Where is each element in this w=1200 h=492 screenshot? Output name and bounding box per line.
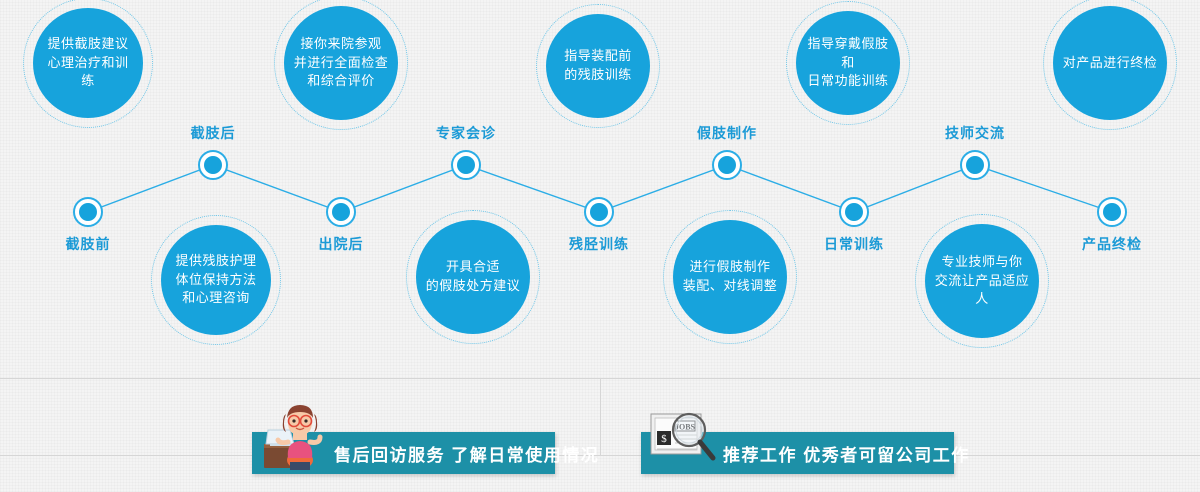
flow-bubble-text: 提供截肢建议 心理治疗和训练 [33, 35, 143, 92]
flow-bubble-text: 专业技师与你 交流让产品适应人 [925, 253, 1039, 310]
flow-bubble[interactable]: 指导穿戴假肢和 日常功能训练 [796, 11, 900, 115]
flow-bubble[interactable]: 接你来院参观 并进行全面检查 和综合评价 [284, 6, 398, 120]
flow-bubble-text: 接你来院参观 并进行全面检查 和综合评价 [286, 35, 397, 92]
flow-bubble-text: 开具合适 的假肢处方建议 [418, 258, 529, 296]
divider-vertical [600, 378, 601, 455]
timeline-node-label: 出院后 [319, 234, 364, 254]
timeline-node[interactable] [198, 150, 228, 180]
service-banner-text: 售后回访服务 了解日常使用情况 [334, 441, 599, 466]
flow-bubble-text: 对产品进行终检 [1055, 54, 1166, 73]
flow-bubble[interactable]: 对产品进行终检 [1053, 6, 1167, 120]
timeline-node-label: 日常训练 [824, 234, 884, 254]
flow-bubble-text: 进行假肢制作 装配、对线调整 [675, 258, 786, 296]
flow-bubble-text: 提供残肢护理 体位保持方法 和心理咨询 [167, 252, 264, 309]
flow-bubble[interactable]: 进行假肢制作 装配、对线调整 [673, 220, 787, 334]
flow-bubble[interactable]: 专业技师与你 交流让产品适应人 [925, 224, 1039, 338]
flow-bubble-text: 指导穿戴假肢和 日常功能训练 [796, 35, 900, 92]
flow-bubble[interactable]: 指导装配前 的残肢训练 [546, 14, 650, 118]
timeline-node[interactable] [839, 197, 869, 227]
flow-bubble[interactable]: 开具合适 的假肢处方建议 [416, 220, 530, 334]
timeline-node[interactable] [960, 150, 990, 180]
service-banner-text: 推荐工作 优秀者可留公司工作 [723, 441, 970, 466]
woman-at-desk-icon [260, 400, 324, 472]
timeline-node-label: 专家会诊 [436, 123, 496, 143]
flow-bubble[interactable]: 提供残肢护理 体位保持方法 和心理咨询 [161, 225, 271, 335]
timeline-node-label: 截肢后 [191, 123, 236, 143]
timeline-node-label: 残胫训练 [569, 234, 629, 254]
service-banner[interactable]: 售后回访服务 了解日常使用情况 [252, 432, 555, 474]
timeline-node-label: 假肢制作 [697, 123, 757, 143]
timeline-node-label: 技师交流 [945, 123, 1005, 143]
flow-bubble-text: 指导装配前 的残肢训练 [556, 47, 640, 85]
timeline-node[interactable] [1097, 197, 1127, 227]
timeline-node-label: 产品终检 [1082, 234, 1142, 254]
service-banner[interactable]: $ JOBS 推荐工作 优秀者可留公司工作 [641, 432, 954, 474]
jobs-magnifier-icon: $ JOBS [647, 404, 719, 470]
svg-text:$: $ [661, 433, 667, 445]
timeline-node[interactable] [584, 197, 614, 227]
timeline-node[interactable] [451, 150, 481, 180]
timeline-node[interactable] [73, 197, 103, 227]
timeline-node[interactable] [326, 197, 356, 227]
timeline-node[interactable] [712, 150, 742, 180]
flow-diagram-stage: 提供截肢建议 心理治疗和训练提供残肢护理 体位保持方法 和心理咨询接你来院参观 … [0, 0, 1200, 492]
divider-banner-connector [0, 455, 1200, 456]
timeline-node-label: 截肢前 [66, 234, 111, 254]
flow-bubble[interactable]: 提供截肢建议 心理治疗和训练 [33, 8, 143, 118]
